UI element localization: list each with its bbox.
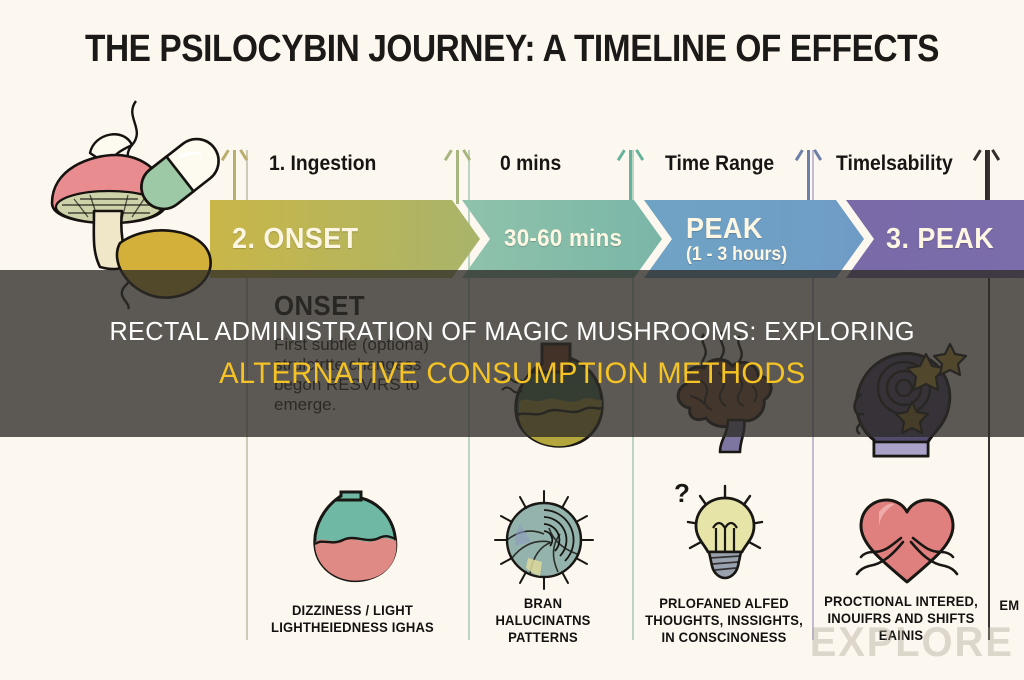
page-title: THE PSILOCYBIN JOURNEY: A TIMELINE OF EF… bbox=[61, 28, 962, 71]
chevron-3-peak-title: 3. PEAK bbox=[886, 225, 994, 254]
caption-4-line-1: PROCTIONAL INTERED, bbox=[821, 593, 981, 610]
caption-2: BRAN HALUCINATNS PATTERNS bbox=[478, 595, 608, 646]
lightbulb-question-icon: ? bbox=[668, 476, 783, 591]
fractal-spiral-icon bbox=[492, 488, 597, 593]
caption-1-line-2: LIGHTHEIEDNESS IGHAS bbox=[262, 619, 443, 636]
caption-3-line-1: PRLOFANED ALFED bbox=[640, 595, 807, 612]
timeline-chevron-band: 2. ONSET 30-60 mins PEAK (1 - 3 hours) 3… bbox=[210, 200, 1024, 278]
chevron-peak-hours: PEAK (1 - 3 hours) bbox=[644, 200, 864, 278]
overlay-headline-line2: ALTERNATIVE CONSUMPTION METHODS bbox=[219, 357, 806, 391]
caption-2-line-2: HALUCINATNS bbox=[478, 612, 608, 629]
chevron-peak-subtitle: (1 - 3 hours) bbox=[686, 245, 787, 264]
poster-canvas: THE PSILOCYBIN JOURNEY: A TIMELINE OF EF… bbox=[0, 0, 1024, 680]
top-label-4: Timelsability bbox=[836, 152, 953, 176]
overlay-headline-line1: RECTAL ADMINISTRATION OF MAGIC MUSHROOMS… bbox=[109, 316, 914, 347]
chevron-30-60-mins-title: 30-60 mins bbox=[504, 226, 622, 251]
chevron-peak-title: PEAK bbox=[686, 215, 787, 244]
overlay-banner: RECTAL ADMINISTRATION OF MAGIC MUSHROOMS… bbox=[0, 270, 1024, 437]
top-label-3: Time Range bbox=[665, 152, 774, 176]
watermark: EXPLORE bbox=[810, 618, 1014, 666]
caption-3: PRLOFANED ALFED THOUGHTS, INSSIGHTS, IN … bbox=[640, 595, 807, 646]
top-label-1: 1. Ingestion bbox=[269, 152, 376, 176]
caption-2-line-1: BRAN bbox=[478, 595, 608, 612]
caption-5-line-1: EM bbox=[999, 597, 1024, 614]
chevron-3-peak: 3. PEAK bbox=[846, 200, 1024, 278]
svg-text:?: ? bbox=[674, 478, 690, 508]
top-label-2: 0 mins bbox=[500, 152, 561, 176]
caption-1: DIZZINESS / LIGHT LIGHTHEIEDNESS IGHAS bbox=[262, 602, 443, 636]
chevron-onset: 2. ONSET bbox=[210, 200, 480, 278]
timeline-arrow-2 bbox=[449, 142, 465, 204]
caption-3-line-3: IN CONSCINONESS bbox=[640, 629, 807, 646]
caption-5: EM bbox=[999, 597, 1024, 614]
stomach-teal-pink-icon bbox=[295, 488, 415, 588]
chevron-30-60-mins: 30-60 mins bbox=[462, 200, 662, 278]
timeline-arrow-5 bbox=[978, 142, 994, 204]
caption-3-line-2: THOUGHTS, INSSIGHTS, bbox=[640, 612, 807, 629]
timeline-arrow-4 bbox=[800, 142, 816, 204]
caption-2-line-3: PATTERNS bbox=[478, 629, 608, 646]
heart-with-waves-icon bbox=[845, 490, 970, 590]
timeline-arrow-3 bbox=[622, 142, 638, 204]
chevron-onset-title: 2. ONSET bbox=[232, 225, 359, 254]
caption-1-line-1: DIZZINESS / LIGHT bbox=[262, 602, 443, 619]
